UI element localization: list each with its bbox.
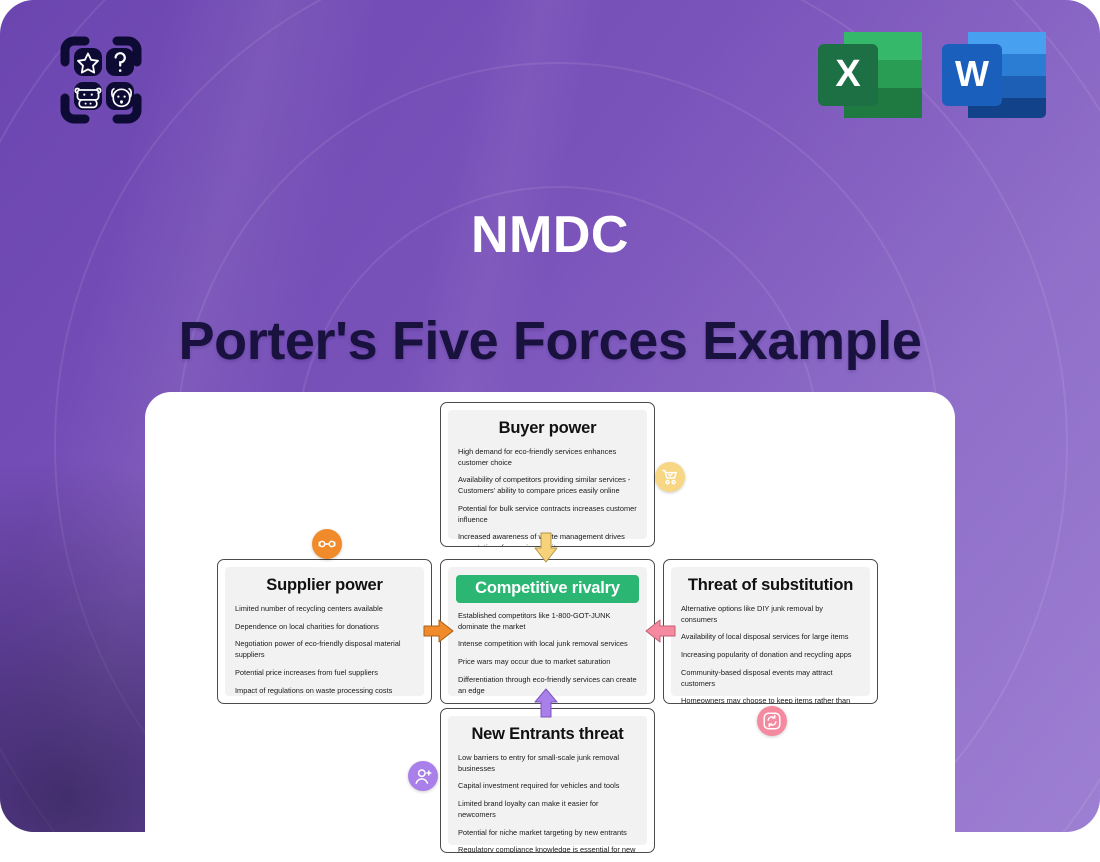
diagram-card: Buyer power High demand for eco-friendly… — [145, 392, 955, 862]
list-item: Community-based disposal events may attr… — [681, 668, 860, 689]
list-item: Intense competition with local junk remo… — [458, 639, 637, 650]
list-item: Availability of competitors providing si… — [458, 475, 637, 496]
arrow-entrants-to-rivalry — [533, 688, 559, 723]
list-item: Potential for bulk service contracts inc… — [458, 504, 637, 525]
box-supplier-power[interactable]: Supplier power Limited number of recycli… — [217, 559, 432, 704]
box-competitive-rivalry[interactable]: Competitive rivalry Established competit… — [440, 559, 655, 704]
list-item: Potential price increases from fuel supp… — [235, 668, 414, 679]
box-points-substitution: Alternative options like DIY junk remova… — [681, 604, 860, 704]
arrow-buyer-to-rivalry — [533, 532, 559, 569]
excel-icon[interactable]: X — [816, 30, 924, 127]
box-title-rivalry: Competitive rivalry — [456, 575, 639, 603]
brand-title: NMDC — [0, 205, 1100, 265]
list-item: Capital investment required for vehicles… — [458, 781, 637, 792]
list-item: Dependence on local charities for donati… — [235, 622, 414, 633]
porters-five-forces-diagram: Buyer power High demand for eco-friendly… — [145, 392, 955, 862]
list-item: Limited brand loyalty can make it easier… — [458, 799, 637, 820]
list-item: Negotiation power of eco-friendly dispos… — [235, 639, 414, 660]
excel-letter: X — [835, 53, 861, 95]
box-title-buyer: Buyer power — [458, 419, 637, 438]
screenshot-root: X W NMDC Porter's Five Forces Example Bu… — [0, 0, 1100, 832]
list-item: Increasing popularity of donation and re… — [681, 650, 860, 661]
nmdc-logo[interactable] — [47, 28, 155, 132]
list-item: Low barriers to entry for small-scale ju… — [458, 753, 637, 774]
list-item: Potential for niche market targeting by … — [458, 828, 637, 839]
box-threat-of-substitution[interactable]: Threat of substitution Alternative optio… — [663, 559, 878, 704]
list-item: Price wars may occur due to market satur… — [458, 657, 637, 668]
page-title: Porter's Five Forces Example — [0, 310, 1100, 372]
list-item: Regulatory compliance knowledge is essen… — [458, 845, 637, 853]
list-item: Limited number of recycling centers avai… — [235, 604, 414, 615]
box-title-substitution: Threat of substitution — [681, 576, 860, 595]
box-title-supplier: Supplier power — [235, 576, 414, 595]
box-points-supplier: Limited number of recycling centers avai… — [235, 604, 414, 696]
list-item: Availability of local disposal services … — [681, 632, 860, 643]
box-new-entrants-threat[interactable]: New Entrants threat Low barriers to entr… — [440, 708, 655, 853]
list-item: Established competitors like 1-800-GOT-J… — [458, 611, 637, 632]
refresh-sync-icon[interactable] — [757, 706, 787, 736]
list-item: High demand for eco-friendly services en… — [458, 447, 637, 468]
box-title-entrants: New Entrants threat — [458, 725, 637, 744]
add-person-icon[interactable] — [408, 761, 438, 791]
shopping-cart-check-icon[interactable] — [655, 462, 685, 492]
box-points-entrants: Low barriers to entry for small-scale ju… — [458, 753, 637, 853]
list-item: Impact of regulations on waste processin… — [235, 686, 414, 697]
box-buyer-power[interactable]: Buyer power High demand for eco-friendly… — [440, 402, 655, 547]
arrow-substitution-to-rivalry — [644, 618, 676, 649]
list-item: Homeowners may choose to keep items rath… — [681, 696, 860, 704]
word-icon[interactable]: W — [940, 30, 1048, 127]
word-letter: W — [955, 53, 989, 94]
list-item: Alternative options like DIY junk remova… — [681, 604, 860, 625]
dumbbell-icon[interactable] — [312, 529, 342, 559]
arrow-supplier-to-rivalry — [423, 618, 455, 649]
